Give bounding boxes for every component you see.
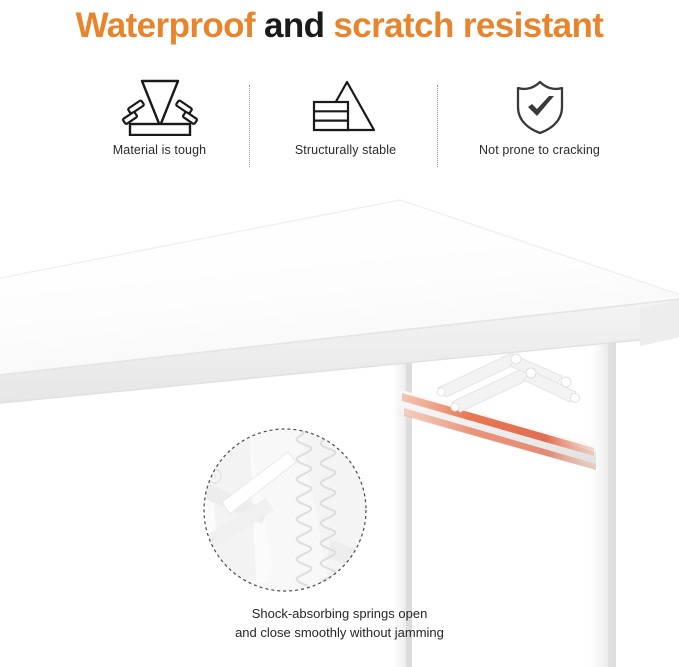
page-title: Waterproofandscratch resistant [0,0,679,52]
feature-strip: Material is tough Structurally stable [0,78,679,170]
stacked-triangle-stability-icon [300,78,392,136]
feature-label: Material is tough [113,143,206,157]
impact-chisel-icon [112,78,208,136]
shield-check-icon [507,78,573,136]
feature-item-structurally-stable: Structurally stable [269,78,422,170]
page-title-part-scratch-resistant: scratch resistant [333,6,603,46]
feature-label: Structurally stable [295,143,396,157]
spring-detail-magnifier [196,416,392,598]
feature-item-material-is-tough: Material is tough [83,78,236,170]
product-feature-page: Waterproofandscratch resistant Mater [0,0,679,667]
feature-label: Not prone to cracking [479,143,600,157]
feature-divider [437,85,438,167]
feature-divider [249,85,250,167]
caption-line-2: and close smoothly without jamming [0,623,679,642]
page-title-part-waterproof: Waterproof [76,6,255,46]
page-title-part-and: and [264,6,324,46]
product-photo [0,180,679,667]
feature-item-not-prone-to-cracking: Not prone to cracking [452,78,627,170]
magnifier-caption: Shock-absorbing springs open and close s… [0,604,679,642]
caption-line-1: Shock-absorbing springs open [0,604,679,623]
